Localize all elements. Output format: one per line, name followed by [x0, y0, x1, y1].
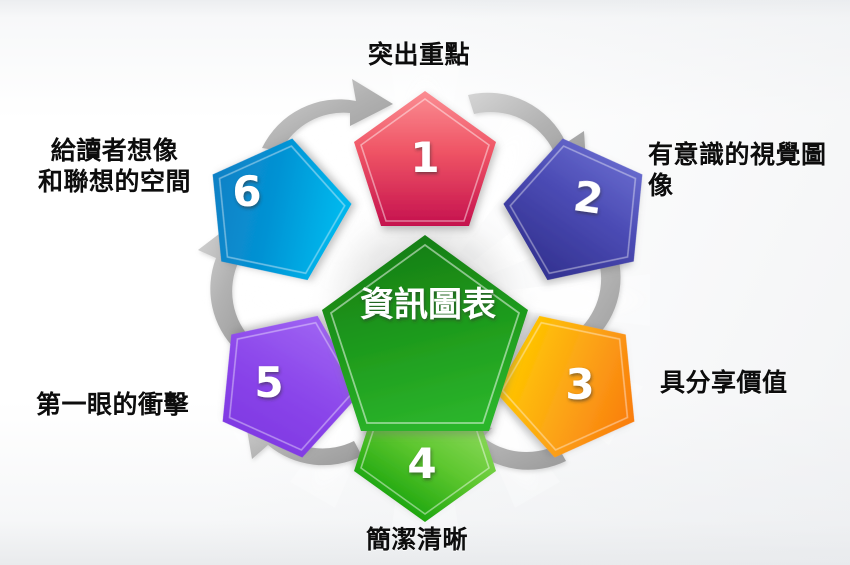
center-label: 資訊圖表	[360, 285, 496, 325]
step-number-3: 3	[565, 360, 594, 409]
step-label-5: 第一眼的衝擊	[36, 390, 189, 421]
step-label-1: 突出重點	[368, 40, 470, 71]
step-number-4: 4	[407, 439, 436, 488]
step-label-4: 簡潔清晰	[366, 525, 468, 556]
step-number-5: 5	[254, 358, 283, 407]
infographic-canvas: 1 2 3 4 5 6	[0, 0, 850, 565]
step-label-2: 有意識的視覺圖像	[648, 140, 850, 201]
step-number-1: 1	[410, 133, 439, 182]
cycle-diagram-svg: 1 2 3 4 5 6	[0, 0, 850, 565]
step-label-3: 具分享價值	[660, 368, 788, 399]
step-label-6: 給讀者想像 和聯想的空間	[38, 136, 191, 197]
step-number-6: 6	[232, 167, 261, 216]
